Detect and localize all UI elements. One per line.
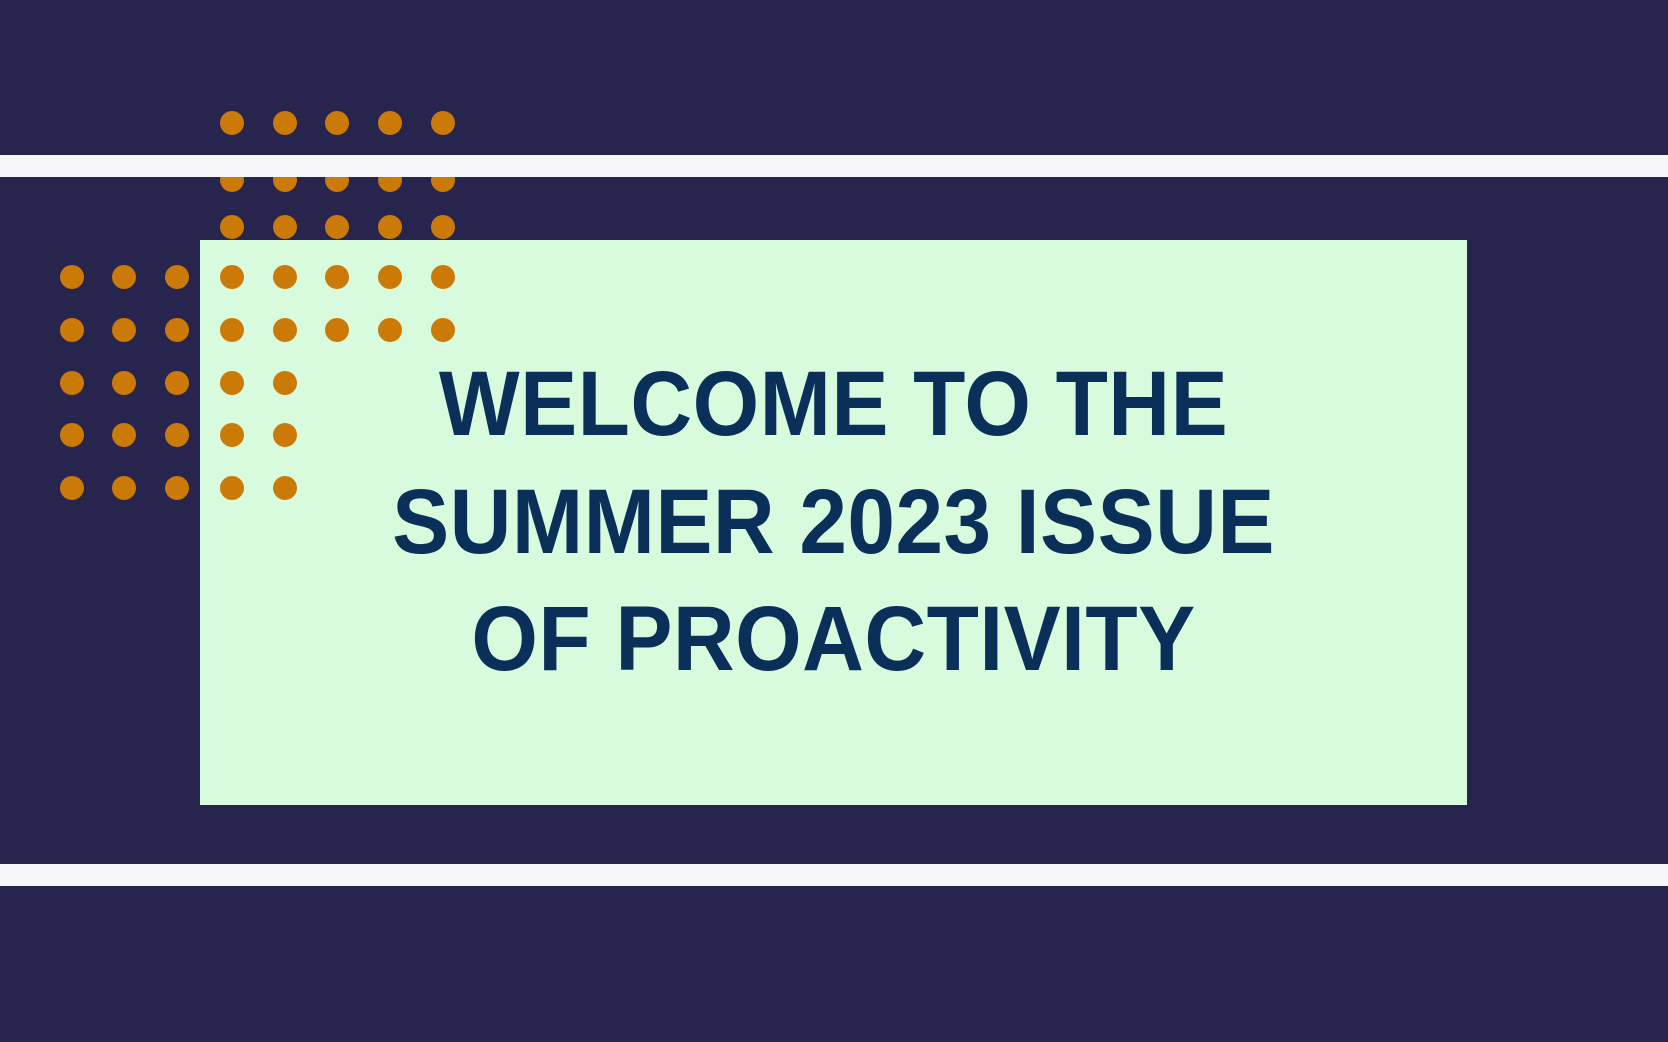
headline-line-1: WELCOME TO THE <box>430 346 1238 464</box>
decorative-dot <box>112 265 136 289</box>
decorative-dot <box>60 265 84 289</box>
top-accent-band <box>0 155 1668 177</box>
headline-line-2: SUMMER 2023 ISSUE <box>383 464 1284 582</box>
decorative-dot <box>60 423 84 447</box>
page-title: WELCOME TO THE SUMMER 2023 ISSUE OF PROA… <box>244 240 1422 805</box>
decorative-dot <box>165 476 189 500</box>
decorative-dot <box>112 476 136 500</box>
decorative-dot <box>273 111 297 135</box>
decorative-dot <box>273 215 297 239</box>
decorative-dot <box>165 265 189 289</box>
decorative-dot <box>112 318 136 342</box>
decorative-dot <box>325 111 349 135</box>
decorative-dot <box>112 371 136 395</box>
decorative-dot <box>165 371 189 395</box>
decorative-dot <box>60 476 84 500</box>
headline-line-3: OF PROACTIVITY <box>462 581 1205 699</box>
decorative-dot <box>378 111 402 135</box>
decorative-dot <box>220 111 244 135</box>
decorative-dot <box>325 215 349 239</box>
slide-canvas: WELCOME TO THE SUMMER 2023 ISSUE OF PROA… <box>0 0 1668 1042</box>
decorative-dot <box>165 318 189 342</box>
decorative-dot <box>378 215 402 239</box>
decorative-dot <box>60 371 84 395</box>
decorative-dot <box>431 111 455 135</box>
decorative-dot <box>165 423 189 447</box>
decorative-dot <box>60 318 84 342</box>
decorative-dot <box>220 215 244 239</box>
decorative-dot <box>112 423 136 447</box>
decorative-dot <box>431 215 455 239</box>
bottom-accent-band <box>0 864 1668 886</box>
